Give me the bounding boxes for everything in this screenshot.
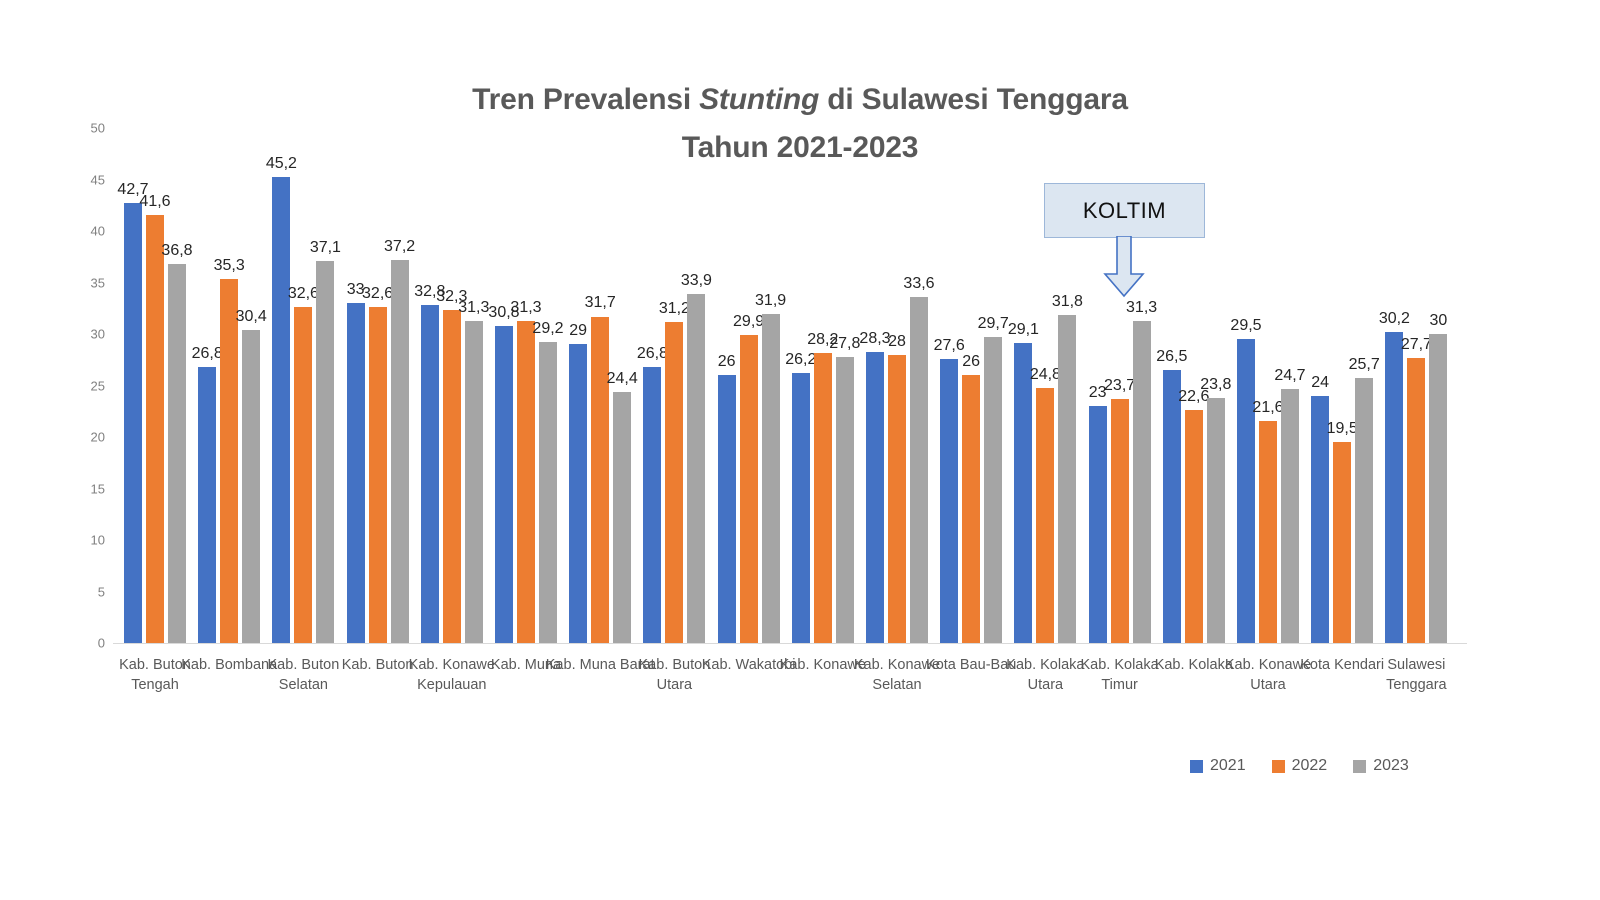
bar-value-label: 25,7 [1344, 356, 1384, 374]
bar-2023[interactable] [316, 261, 334, 643]
legend: 202120222023 [1190, 757, 1409, 775]
bar-group: 28,32833,6 [866, 128, 928, 643]
bar-value-label: 41,6 [135, 193, 175, 211]
bar-value-label: 33,6 [899, 275, 939, 293]
bar-group: 26,835,330,4 [198, 128, 260, 643]
legend-item[interactable]: 2023 [1353, 757, 1409, 775]
bar-2022[interactable] [962, 375, 980, 643]
bar-value-label: 24 [1300, 374, 1340, 392]
bar-value-label: 45,2 [261, 155, 301, 173]
koltim-callout-box: KOLTIM [1044, 183, 1205, 238]
bar-2023[interactable] [168, 264, 186, 643]
bar-2023[interactable] [465, 321, 483, 643]
bar-2023[interactable] [762, 314, 780, 643]
y-axis-tick: 15 [65, 481, 105, 496]
y-axis-tick: 0 [65, 636, 105, 651]
bar-2022[interactable] [1259, 421, 1277, 643]
y-axis-tick: 20 [65, 430, 105, 445]
bar-2022[interactable] [443, 310, 461, 643]
bar-2022[interactable] [1111, 399, 1129, 643]
bar-2021[interactable] [198, 367, 216, 643]
bar-group: 30,227,730 [1385, 128, 1447, 643]
legend-label: 2022 [1292, 757, 1328, 775]
bar-value-label: 24,4 [602, 370, 642, 388]
bar-2022[interactable] [294, 307, 312, 643]
title-line-1: Tren Prevalensi Stunting di Sulawesi Ten… [300, 76, 1300, 124]
bar-group: 27,62629,7 [940, 128, 1002, 643]
bar-2022[interactable] [888, 355, 906, 643]
bar-value-label: 23,8 [1196, 376, 1236, 394]
bar-2023[interactable] [910, 297, 928, 643]
y-axis-tick: 40 [65, 224, 105, 239]
bar-2022[interactable] [814, 353, 832, 643]
bar-2022[interactable] [369, 307, 387, 643]
bar-2023[interactable] [1133, 321, 1151, 643]
bar-value-label: 29,1 [1003, 321, 1043, 339]
bar-group: 3332,637,2 [347, 128, 409, 643]
bar-value-label: 31,3 [506, 299, 546, 317]
y-axis-tick: 50 [65, 121, 105, 136]
bar-value-label: 37,2 [380, 238, 420, 256]
legend-label: 2023 [1373, 757, 1409, 775]
y-axis-tick: 35 [65, 275, 105, 290]
bar-2023[interactable] [242, 330, 260, 643]
bar-2023[interactable] [391, 260, 409, 643]
bar-2021[interactable] [792, 373, 810, 643]
y-axis-tick: 25 [65, 378, 105, 393]
bar-value-label: 36,8 [157, 242, 197, 260]
bar-2021[interactable] [718, 375, 736, 643]
bar-2022[interactable] [591, 317, 609, 644]
y-axis: 05101520253035404550 [60, 128, 105, 643]
bar-2022[interactable] [740, 335, 758, 643]
bar-value-label: 31,8 [1047, 293, 1087, 311]
bar-group: 26,228,227,8 [792, 128, 854, 643]
bar-value-label: 30 [1418, 312, 1458, 330]
y-axis-tick: 30 [65, 327, 105, 342]
bar-2022[interactable] [1185, 410, 1203, 643]
legend-swatch [1190, 760, 1203, 773]
bar-value-label: 37,1 [305, 239, 345, 257]
bar-2023[interactable] [836, 357, 854, 643]
bar-2021[interactable] [1237, 339, 1255, 643]
bar-2023[interactable] [1281, 389, 1299, 643]
title-part-post: di Sulawesi Tenggara [819, 83, 1128, 116]
plot-area: 42,741,636,826,835,330,445,232,637,13332… [113, 128, 1467, 643]
y-axis-tick: 45 [65, 172, 105, 187]
bar-2021[interactable] [866, 352, 884, 643]
bar-value-label: 26,5 [1152, 348, 1192, 366]
bar-2022[interactable] [220, 279, 238, 643]
bar-value-label: 30,2 [1374, 310, 1414, 328]
bar-2023[interactable] [613, 392, 631, 643]
bar-2022[interactable] [1036, 388, 1054, 643]
stunting-bar-chart: Tren Prevalensi Stunting di Sulawesi Ten… [0, 0, 1600, 900]
bar-group: 29,521,624,7 [1237, 128, 1299, 643]
bar-2021[interactable] [1385, 332, 1403, 643]
bar-2021[interactable] [347, 303, 365, 643]
bar-group: 45,232,637,1 [272, 128, 334, 643]
legend-swatch [1272, 760, 1285, 773]
bar-2021[interactable] [1163, 370, 1181, 643]
bar-2022[interactable] [146, 215, 164, 643]
bar-2021[interactable] [569, 344, 587, 643]
bar-2021[interactable] [272, 177, 290, 643]
bar-2023[interactable] [1207, 398, 1225, 643]
bar-value-label: 35,3 [209, 257, 249, 275]
bar-2022[interactable] [1333, 442, 1351, 643]
bar-group: 2931,724,4 [569, 128, 631, 643]
bar-2021[interactable] [940, 359, 958, 643]
bar-group: 2419,525,7 [1311, 128, 1373, 643]
bar-2021[interactable] [124, 203, 142, 643]
legend-label: 2021 [1210, 757, 1246, 775]
bar-value-label: 31,7 [580, 294, 620, 312]
legend-item[interactable]: 2022 [1272, 757, 1328, 775]
bar-value-label: 27,6 [929, 337, 969, 355]
bar-2021[interactable] [1014, 343, 1032, 643]
y-axis-tick: 5 [65, 584, 105, 599]
bar-value-label: 29,5 [1226, 317, 1266, 335]
bar-2023[interactable] [539, 342, 557, 643]
y-axis-tick: 10 [65, 533, 105, 548]
x-axis-category-label: Sulawesi Tenggara [1361, 655, 1471, 695]
title-part-italic: Stunting [699, 83, 819, 116]
bar-2021[interactable] [643, 367, 661, 643]
legend-swatch [1353, 760, 1366, 773]
down-arrow-icon [1100, 236, 1148, 298]
bar-2022[interactable] [665, 322, 683, 643]
bar-2021[interactable] [421, 305, 439, 643]
bar-2021[interactable] [495, 326, 513, 643]
x-axis-baseline [113, 643, 1467, 644]
bar-2023[interactable] [1429, 334, 1447, 643]
bar-2023[interactable] [687, 294, 705, 643]
bar-value-label: 31,3 [1122, 299, 1162, 317]
bar-2021[interactable] [1089, 406, 1107, 643]
bar-group: 26,831,233,9 [643, 128, 705, 643]
legend-item[interactable]: 2021 [1190, 757, 1246, 775]
bar-2023[interactable] [984, 337, 1002, 643]
bar-group: 30,831,329,2 [495, 128, 557, 643]
bar-2022[interactable] [517, 321, 535, 643]
koltim-callout-label: KOLTIM [1083, 198, 1166, 224]
bar-value-label: 30,4 [231, 308, 271, 326]
bar-group: 42,741,636,8 [124, 128, 186, 643]
title-part-pre: Tren Prevalensi [472, 83, 699, 116]
bar-2023[interactable] [1058, 315, 1076, 643]
bar-value-label: 31,9 [751, 292, 791, 310]
bar-2022[interactable] [1407, 358, 1425, 643]
bar-value-label: 33,9 [676, 272, 716, 290]
bar-group: 2629,931,9 [718, 128, 780, 643]
bar-group: 32,832,331,3 [421, 128, 483, 643]
bar-2023[interactable] [1355, 378, 1373, 643]
